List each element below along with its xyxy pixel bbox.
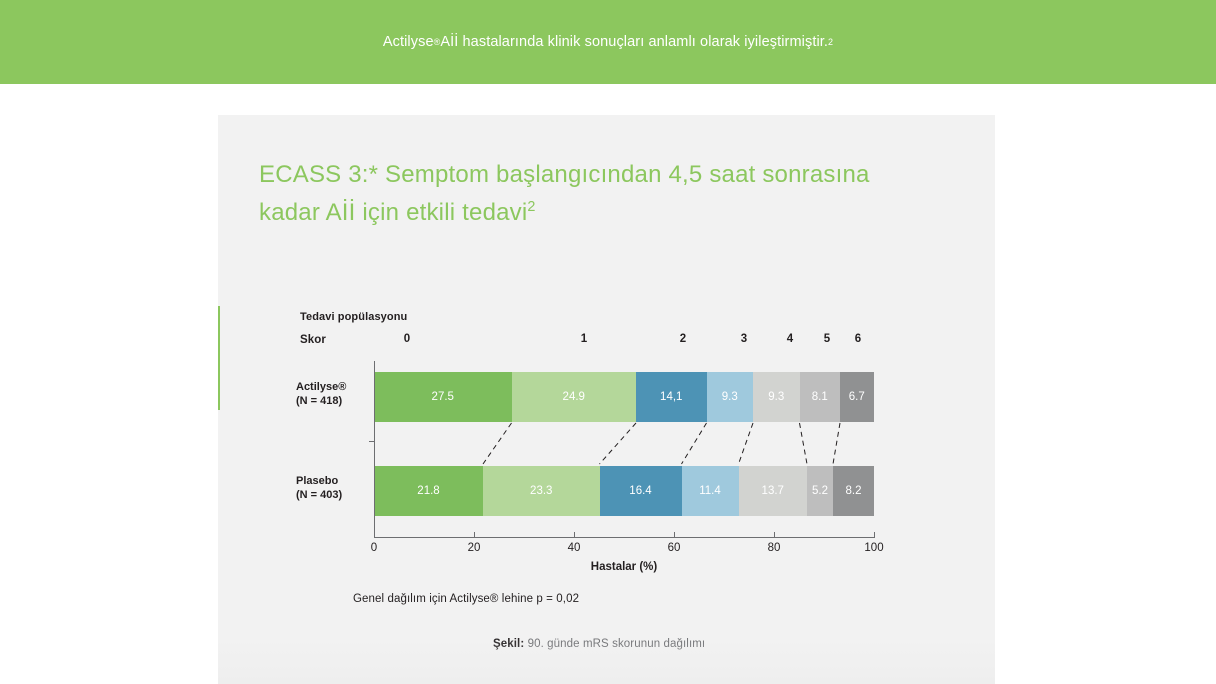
score-row-label: Skor xyxy=(300,334,326,346)
score-header-3: 3 xyxy=(741,333,747,345)
bar-segment-score-2[interactable]: 14,1 xyxy=(636,372,707,422)
bar-segment-score-1[interactable]: 24.9 xyxy=(512,372,637,422)
row-label-plasebo-name: Plasebo xyxy=(296,475,338,487)
figure-caption-prefix: Şekil: xyxy=(493,638,524,650)
x-tick-label-40: 40 xyxy=(568,542,581,554)
bar-segment-score-6[interactable]: 6.7 xyxy=(840,372,874,422)
population-label: Tedavi popülasyonu xyxy=(300,311,407,323)
banner-reference: 2 xyxy=(828,37,833,47)
x-axis-line xyxy=(374,537,874,538)
bar-segment-score-3[interactable]: 9.3 xyxy=(707,372,754,422)
score-header-1: 1 xyxy=(581,333,587,345)
score-header-0: 0 xyxy=(404,333,410,345)
score-header-5: 5 xyxy=(824,333,830,345)
x-tick-label-60: 60 xyxy=(668,542,681,554)
banner-title: Actilyse® Aİİ hastalarında klinik sonuçl… xyxy=(0,0,1216,84)
x-tick-40 xyxy=(574,532,575,538)
x-tick-label-100: 100 xyxy=(864,542,883,554)
content-card: ECASS 3:* Semptom başlangıcından 4,5 saa… xyxy=(218,115,995,684)
x-tick-20 xyxy=(474,532,475,538)
x-tick-label-0: 0 xyxy=(371,542,377,554)
bar-segment-value: 9.3 xyxy=(722,391,738,403)
bar-segment-score-0[interactable]: 21.8 xyxy=(374,466,483,516)
x-axis-title: Hastalar (%) xyxy=(591,561,657,573)
bar-segment-value: 16.4 xyxy=(629,485,651,497)
bar-segment-value: 5.2 xyxy=(812,485,828,497)
bar-segment-value: 21.8 xyxy=(417,485,439,497)
bar-segment-value: 23.3 xyxy=(530,485,552,497)
score-header-2: 2 xyxy=(680,333,686,345)
bar-segment-value: 24.9 xyxy=(563,391,585,403)
y-axis-line xyxy=(374,361,375,538)
top-banner: Actilyse® Aİİ hastalarında klinik sonuçl… xyxy=(0,0,1216,84)
bar-segment-value: 27.5 xyxy=(432,391,454,403)
bar-segment-value: 14,1 xyxy=(660,391,682,403)
bar-segment-score-4[interactable]: 13.7 xyxy=(739,466,808,516)
bar-segment-value: 6.7 xyxy=(849,391,865,403)
x-tick-label-20: 20 xyxy=(468,542,481,554)
bar-segment-score-6[interactable]: 8.2 xyxy=(833,466,874,516)
x-tick-100 xyxy=(874,532,875,538)
p-value-note: Genel dağılım için Actilyse® lehine p = … xyxy=(353,593,579,605)
row-label-plasebo: Plasebo (N = 403) xyxy=(296,475,342,502)
figure-caption: Şekil: 90. günde mRS skorunun dağılımı xyxy=(493,638,705,650)
x-tick-0 xyxy=(374,532,375,538)
bar-segment-score-1[interactable]: 23.3 xyxy=(483,466,600,516)
registered-mark-icon: ® xyxy=(434,37,441,47)
figure-caption-text: 90. günde mRS skorunun dağılımı xyxy=(528,638,706,650)
x-tick-80 xyxy=(774,532,775,538)
score-header-6: 6 xyxy=(855,333,861,345)
bar-segment-value: 8.1 xyxy=(812,391,828,403)
row-label-actilyse: Actilyse® (N = 418) xyxy=(296,381,346,408)
bar-segment-score-4[interactable]: 9.3 xyxy=(753,372,800,422)
bar-actilyse: 27.524.914,19.39.38.16.7 xyxy=(374,372,874,422)
banner-text-after: Aİİ hastalarında klinik sonuçları anlaml… xyxy=(440,34,828,50)
bar-segment-score-5[interactable]: 8.1 xyxy=(800,372,841,422)
bar-segment-score-5[interactable]: 5.2 xyxy=(807,466,833,516)
bar-segment-score-2[interactable]: 16.4 xyxy=(600,466,682,516)
banner-text-before: Actilyse xyxy=(383,34,434,50)
bar-segment-value: 9.3 xyxy=(768,391,784,403)
bar-segment-value: 11.4 xyxy=(699,485,721,497)
y-axis-mid-tick xyxy=(369,441,375,442)
row-label-actilyse-name: Actilyse® xyxy=(296,381,346,393)
bar-segment-score-3[interactable]: 11.4 xyxy=(682,466,739,516)
bar-segment-score-0[interactable]: 27.5 xyxy=(374,372,512,422)
bar-segment-value: 8.2 xyxy=(846,485,862,497)
bar-plasebo: 21.823.316.411.413.75.28.2 xyxy=(374,466,874,516)
score-header-4: 4 xyxy=(787,333,793,345)
x-tick-label-80: 80 xyxy=(768,542,781,554)
bar-segment-value: 13.7 xyxy=(762,485,784,497)
mrs-distribution-chart: Tedavi popülasyonu Skor 0 1 2 3 4 5 6 Ac… xyxy=(218,115,995,684)
x-tick-60 xyxy=(674,532,675,538)
row-label-actilyse-n: (N = 418) xyxy=(296,395,342,407)
row-label-plasebo-n: (N = 403) xyxy=(296,489,342,501)
